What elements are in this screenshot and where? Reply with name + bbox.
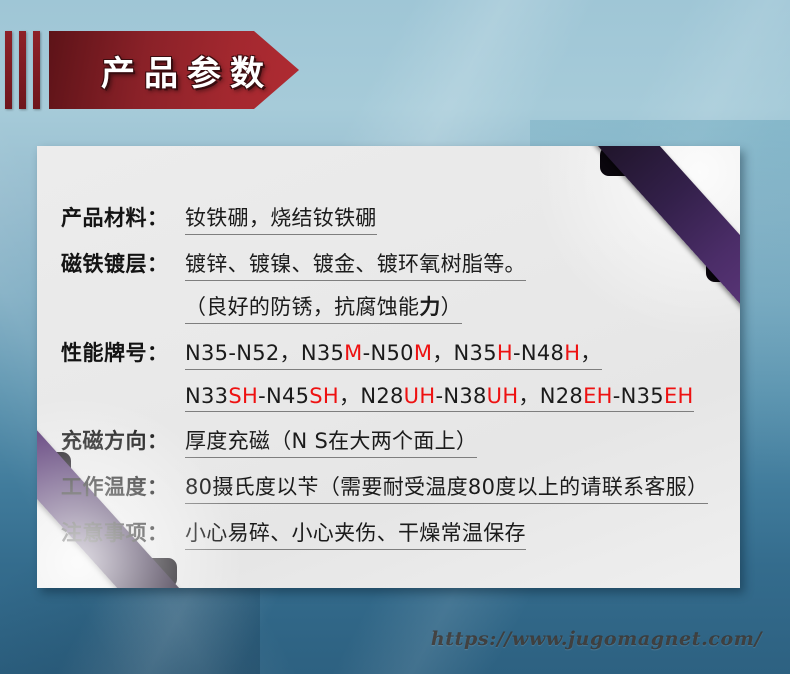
- spec-value-segment: -N45: [258, 384, 309, 408]
- spec-row-value: 镀锌、镀镍、镀金、镀环氧树脂等。: [185, 251, 526, 281]
- grade-suffix-highlight: M: [414, 341, 432, 365]
- banner-stripe: [19, 31, 26, 109]
- grade-suffix-highlight: SH: [309, 384, 339, 408]
- spec-card: 产品材料：钕铁硼，烧结钕铁硼磁铁镀层：镀锌、镀镍、镀金、镀环氧树脂等。（良好的防…: [37, 146, 740, 588]
- spec-value-segment: ）: [441, 295, 462, 319]
- banner-title: 产品参数: [49, 46, 273, 95]
- grade-suffix-highlight: M: [344, 341, 362, 365]
- spec-value-segment: ，: [580, 341, 601, 365]
- banner-stripe: [33, 31, 40, 109]
- spec-row-value: 80摄氏度以苄（需要耐受温度80度以上的请联系客服）: [185, 474, 708, 504]
- spec-row-label: 充磁方向：: [61, 425, 185, 455]
- spec-row-value: 厚度充磁（N S在大两个面上）: [185, 428, 477, 458]
- spec-value-segment: N35-N52，N35: [185, 341, 344, 365]
- spec-row-value: N35-N52，N35M-N50M，N35H-N48H，: [185, 340, 602, 370]
- spec-row: 注意事项：小心易碎、小心夹伤、干燥常温保存: [61, 517, 722, 550]
- grade-suffix-highlight: H: [497, 341, 513, 365]
- grade-suffix-highlight: SH: [228, 384, 258, 408]
- spec-row: 工作温度：80摄氏度以苄（需要耐受温度80度以上的请联系客服）: [61, 471, 722, 504]
- spec-value-segment: -N35: [613, 384, 664, 408]
- spec-row: 产品材料：钕铁硼，烧结钕铁硼: [61, 202, 722, 235]
- spec-row-value: N33SH-N45SH，N28UH-N38UH，N28EH-N35EH: [185, 383, 694, 413]
- spec-value-segment: N33: [185, 384, 228, 408]
- grade-suffix-highlight: EH: [664, 384, 694, 408]
- spec-row: N33SH-N45SH，N28UH-N38UH，N28EH-N35EH: [61, 383, 722, 413]
- banner-stripe: [5, 31, 12, 109]
- spec-row-label: 产品材料：: [61, 202, 185, 232]
- grade-suffix-highlight: H: [564, 341, 580, 365]
- spec-value-segment: （良好的防锈，抗腐蚀能: [185, 295, 419, 319]
- grade-suffix-highlight: EH: [583, 384, 613, 408]
- spec-row-value: 小心易碎、小心夹伤、干燥常温保存: [185, 520, 526, 550]
- spec-row-label: 性能牌号：: [61, 337, 185, 367]
- spec-value-segment: ，N28: [339, 384, 404, 408]
- spec-row-label: 工作温度：: [61, 471, 185, 501]
- ribbon-nib-top-right-a: [600, 146, 634, 176]
- banner-stripes: [5, 31, 40, 109]
- spec-value-segment: ，N28: [518, 384, 583, 408]
- grade-suffix-highlight: UH: [487, 384, 519, 408]
- spec-value-segment: 力: [419, 295, 440, 319]
- spec-value-segment: -N38: [435, 384, 486, 408]
- spec-row-label: 磁铁镀层：: [61, 248, 185, 278]
- spec-row: （良好的防锈，抗腐蚀能力）: [61, 294, 722, 324]
- spec-row-label: 注意事项：: [61, 517, 185, 547]
- spec-value-segment: ，N35: [432, 341, 497, 365]
- grade-suffix-highlight: UH: [404, 384, 436, 408]
- spec-row: 磁铁镀层：镀锌、镀镍、镀金、镀环氧树脂等。: [61, 248, 722, 281]
- spec-row: 性能牌号：N35-N52，N35M-N50M，N35H-N48H，: [61, 337, 722, 370]
- spec-value-segment: -N50: [363, 341, 414, 365]
- spec-value-segment: -N48: [513, 341, 564, 365]
- spec-row-value: （良好的防锈，抗腐蚀能力）: [185, 294, 462, 324]
- banner-arrow-shape: 产品参数: [49, 31, 299, 109]
- page-canvas: 产品参数 产品材料：钕铁硼，烧结钕铁硼磁铁镀层：镀锌、镀镍、镀金、镀环氧树脂等。…: [0, 0, 790, 674]
- watermark-url: https://www.jugomagnet.com/: [431, 628, 762, 650]
- header-banner: 产品参数: [0, 31, 299, 109]
- spec-list: 产品材料：钕铁硼，烧结钕铁硼磁铁镀层：镀锌、镀镍、镀金、镀环氧树脂等。（良好的防…: [61, 202, 722, 563]
- spec-row: 充磁方向：厚度充磁（N S在大两个面上）: [61, 425, 722, 458]
- spec-row-value: 钕铁硼，烧结钕铁硼: [185, 205, 377, 235]
